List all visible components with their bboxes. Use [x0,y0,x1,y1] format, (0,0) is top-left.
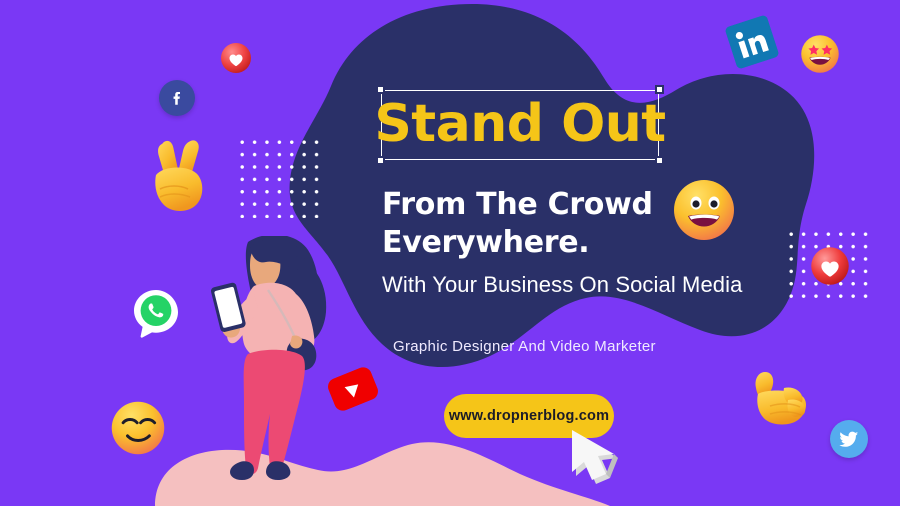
role-text: Graphic Designer And Video Marketer [393,338,656,355]
thumbs-up-hand-emoji [748,366,814,428]
star-struck-emoji [800,34,840,74]
subheadline-line-2: Everywhere. [382,224,722,262]
selection-handle-top-left[interactable] [376,85,385,94]
subheadline-line-1: From The Crowd [382,186,722,224]
heart-reaction-icon [220,42,252,74]
woman-with-phone-illustration [196,236,336,480]
subheadline: From The Crowd Everywhere. [382,186,722,262]
victory-hand-emoji [140,135,216,211]
facebook-icon[interactable] [159,80,195,116]
selection-handle-top-right[interactable] [655,85,664,94]
headline-selection-frame[interactable]: Stand Out [381,90,659,160]
relieved-face-emoji [110,400,166,456]
tagline-text: With Your Business On Social Media [382,272,742,298]
mouse-pointer-icon [564,428,630,490]
dot-grid-left [234,134,320,218]
poster-canvas: Stand Out From The Crowd Everywhere. Wit… [0,0,900,506]
whatsapp-icon[interactable] [134,290,178,338]
heart-reaction-icon [810,246,850,286]
selection-handle-bottom-right[interactable] [655,156,664,165]
page-title: Stand Out [374,94,665,154]
selection-handle-bottom-left[interactable] [376,156,385,165]
twitter-icon[interactable] [830,420,868,458]
